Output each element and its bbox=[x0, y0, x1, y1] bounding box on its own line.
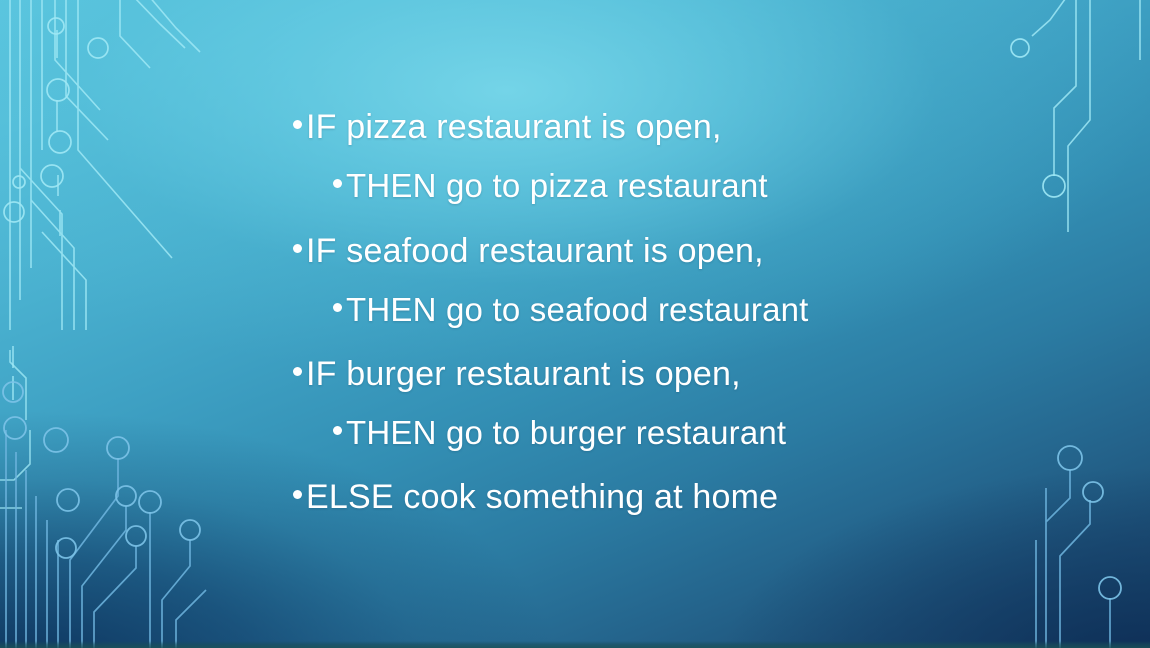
list-item-label: THEN go to burger restaurant bbox=[346, 414, 786, 452]
list-item-label: ELSE cook something at home bbox=[306, 478, 778, 517]
bullet-dot-icon bbox=[333, 179, 342, 188]
presentation-slide: IF pizza restaurant is open, THEN go to … bbox=[0, 0, 1150, 648]
bullet-dot-icon bbox=[293, 490, 302, 499]
bullet-dot-icon bbox=[293, 367, 302, 376]
list-item-label: THEN go to pizza restaurant bbox=[346, 167, 768, 205]
list-item: IF burger restaurant is open, bbox=[293, 355, 741, 394]
bullet-dot-icon bbox=[293, 244, 302, 253]
list-item: THEN go to pizza restaurant bbox=[333, 167, 768, 205]
list-item-label: IF seafood restaurant is open, bbox=[306, 232, 764, 271]
list-item: THEN go to seafood restaurant bbox=[333, 291, 809, 329]
list-item: THEN go to burger restaurant bbox=[333, 414, 786, 452]
list-item-label: THEN go to seafood restaurant bbox=[346, 291, 809, 329]
list-item-label: IF pizza restaurant is open, bbox=[306, 108, 722, 147]
list-item: IF seafood restaurant is open, bbox=[293, 232, 764, 271]
list-item-label: IF burger restaurant is open, bbox=[306, 355, 741, 394]
bullet-dot-icon bbox=[333, 426, 342, 435]
list-item: IF pizza restaurant is open, bbox=[293, 108, 722, 147]
list-item: ELSE cook something at home bbox=[293, 478, 778, 517]
bullet-dot-icon bbox=[293, 120, 302, 129]
slide-body-text: IF pizza restaurant is open, THEN go to … bbox=[0, 0, 1150, 648]
bullet-dot-icon bbox=[333, 303, 342, 312]
